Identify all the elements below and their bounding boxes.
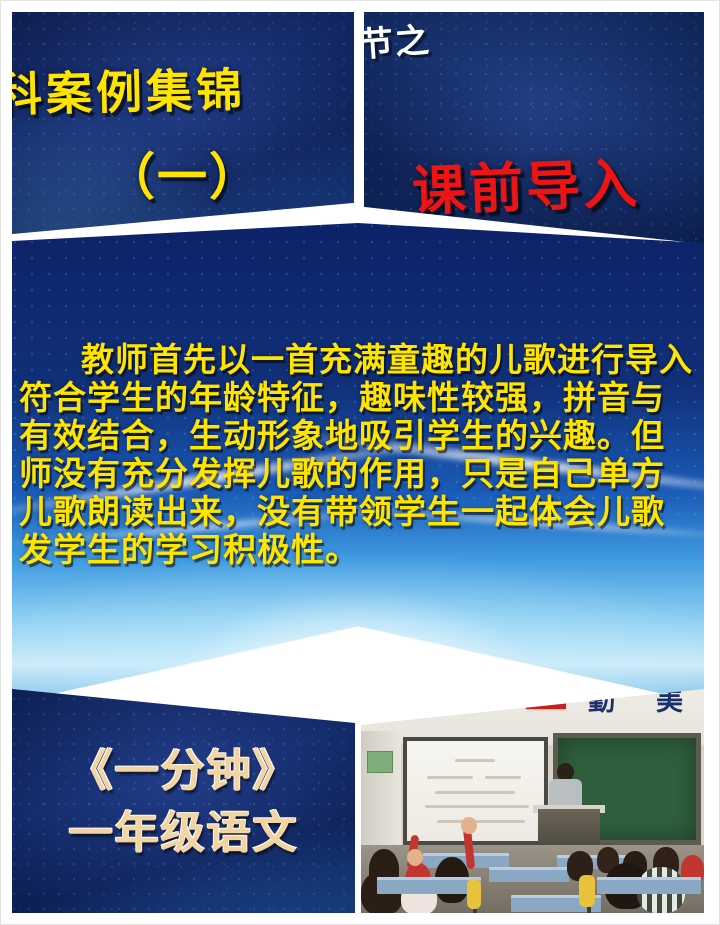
screen-text-line [425, 805, 529, 808]
wall-character-2: 勤 [588, 679, 615, 718]
student-desk [597, 877, 701, 894]
student-desk [377, 877, 481, 894]
panel-top-left-title: 科案例集锦 （一） [12, 12, 354, 234]
national-flag [526, 689, 566, 709]
commentary-line-1: 教师首先以一首充满童趣的儿歌进行导入 [19, 341, 704, 379]
section-title-text: 课前导入 [411, 156, 641, 218]
panel-middle-commentary: 教师首先以一首充满童趣的儿歌进行导入 符合学生的年龄特征，趣味性较强，拼音与 有… [12, 223, 704, 703]
screen-text-line [437, 820, 525, 823]
commentary-text-block: 教师首先以一首充满童趣的儿歌进行导入 符合学生的年龄特征，趣味性较强，拼音与 有… [19, 341, 704, 569]
screen-text-line [485, 776, 521, 779]
screen-text-line [455, 759, 495, 762]
panel-top-right-section: 节之 课前导入 [364, 12, 704, 244]
student-hand [461, 817, 477, 834]
screen-text-line [435, 791, 515, 794]
commentary-line-5: 儿歌朗读出来，没有带领学生一起体会儿歌 [19, 493, 704, 531]
lesson-title-text: 《一分钟》 [12, 735, 355, 799]
slide-collage: 科案例集锦 （一） 节之 课前导入 教师首先以一首充满童趣的儿歌进行导入 符合学… [0, 0, 720, 925]
panel-bottom-right-classroom-photo: 同 勤 美 [361, 667, 704, 915]
commentary-line-3: 有效结合，生动形象地吸引学生的兴趣。但 [19, 417, 704, 455]
wall-speaker [393, 703, 419, 715]
backpack [579, 875, 595, 907]
commentary-line-6: 发学生的学习积极性。 [19, 531, 704, 569]
lesson-grade-subject-text: 一年级语文 [12, 797, 355, 861]
commentary-line-2: 符合学生的年龄特征，趣味性较强，拼音与 [19, 379, 704, 417]
commentary-line-4: 师没有充分发挥儿歌的作用，只是自己单方 [19, 455, 704, 493]
panel-divider-bottom [355, 691, 361, 915]
panel-bottom-left-lesson: 《一分钟》 一年级语文 [12, 667, 355, 915]
title-main-text: 科案例集锦 [12, 64, 354, 118]
student-desk [489, 867, 569, 882]
wall-character-1: 同 [456, 679, 483, 718]
screen-text-line [427, 776, 473, 779]
title-volume-text: （一） [12, 152, 354, 202]
podium [538, 809, 600, 849]
backpack [467, 879, 481, 909]
section-prefix-text: 节之 [364, 24, 432, 63]
student-hand [407, 849, 423, 866]
wall-sign [367, 751, 393, 773]
panel-divider-top [354, 12, 364, 240]
